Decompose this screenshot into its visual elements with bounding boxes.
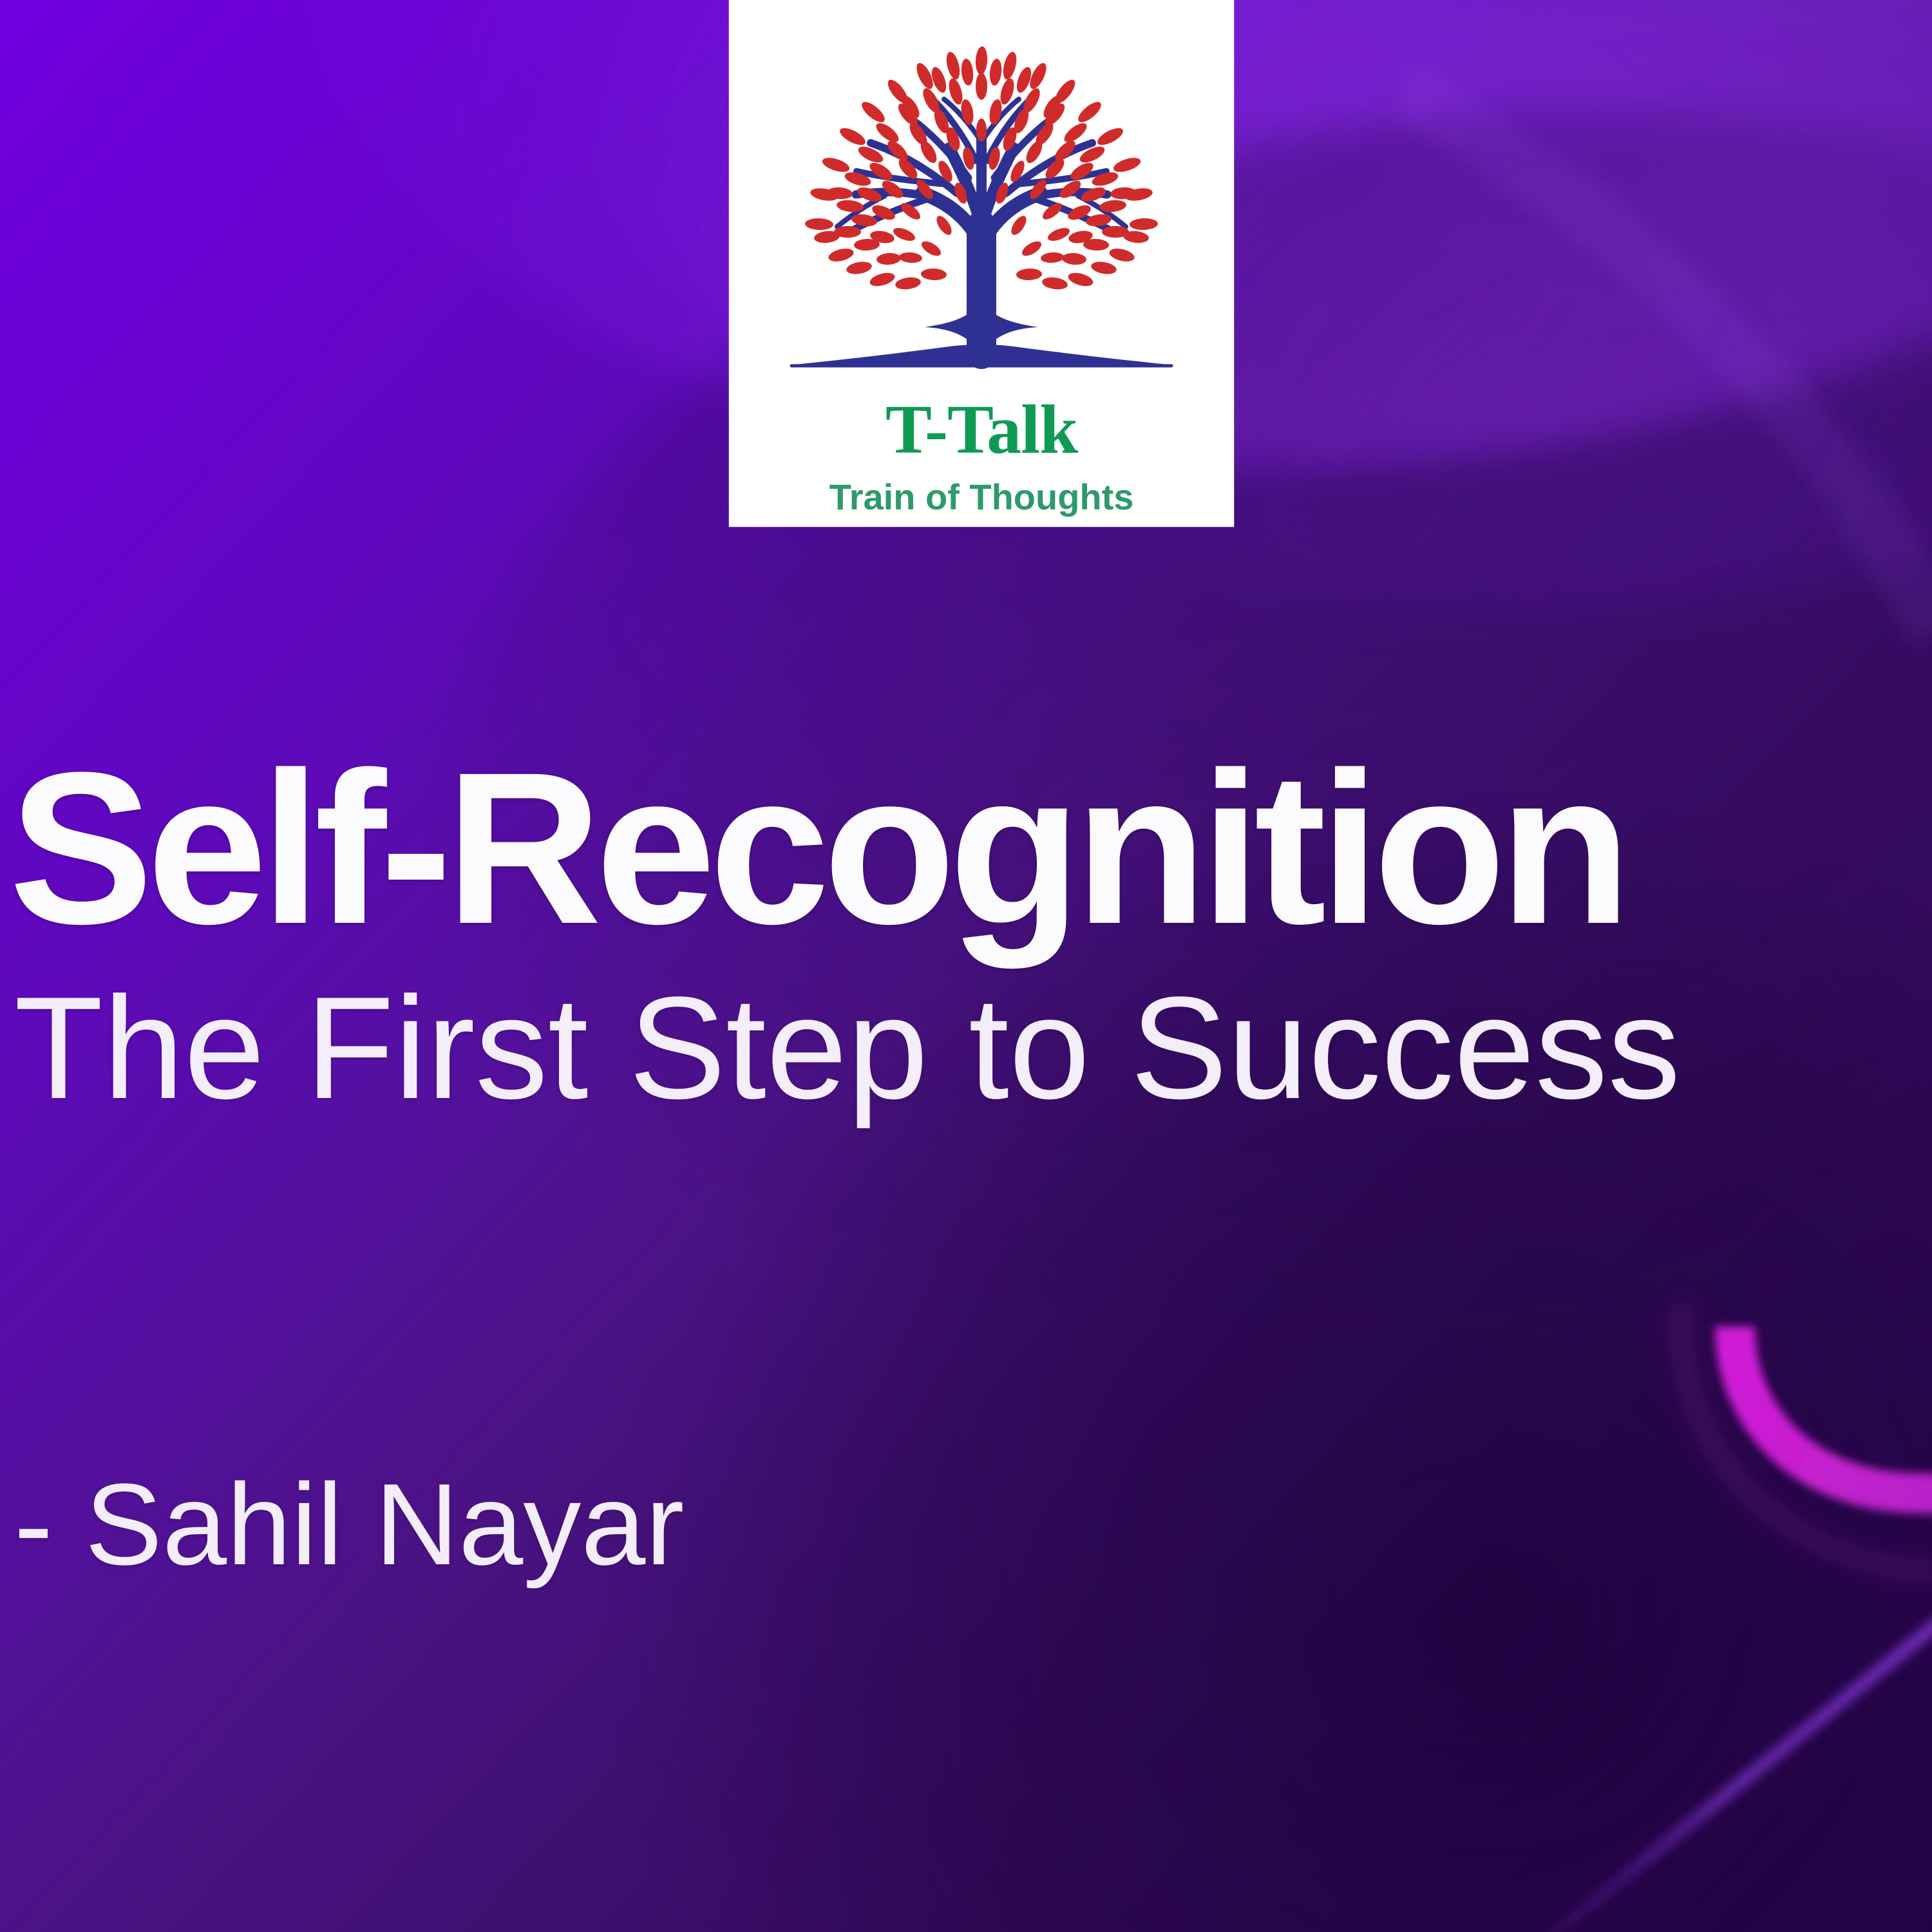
brand-logo-card: T-Talk Train of Thoughts (729, 0, 1234, 527)
magenta-arc-icon (1735, 1327, 1932, 1493)
magenta-arc-echo-icon (1681, 1314, 1926, 1571)
tree-logo-icon (756, 32, 1207, 393)
diagonal-accent-line-icon (1552, 1623, 1932, 1932)
page-subtitle: The First Step to Success (14, 975, 1932, 1121)
headline-block: Self-Recognition The First Step to Succe… (9, 741, 1932, 1121)
title-slide: T-Talk Train of Thoughts Self-Recognitio… (0, 0, 1932, 1932)
logo-wordmark: T-Talk (885, 395, 1077, 465)
upper-arc-echo-icon (1404, 90, 1932, 631)
page-title: Self-Recognition (9, 741, 1932, 957)
logo-tagline: Train of Thoughts (829, 479, 1134, 515)
ground-shadow (795, 345, 1168, 365)
tree-logo-svg (756, 32, 1207, 393)
author-credit: - Sahil Nayar (14, 1467, 684, 1583)
